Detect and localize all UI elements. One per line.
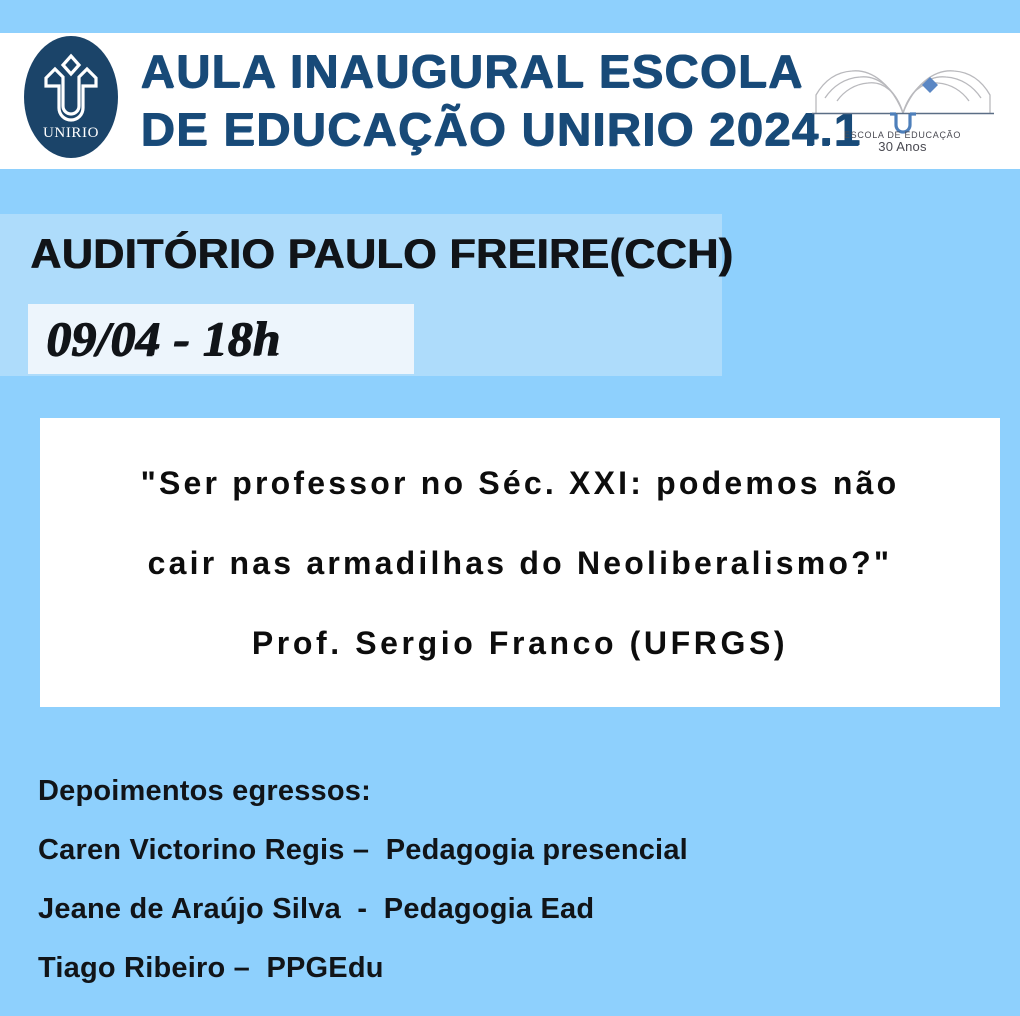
testimonials-heading: Depoimentos egressos: [38, 762, 978, 821]
venue-location: AUDITÓRIO PAULO FREIRE(CCH) [30, 228, 733, 280]
event-poster: UNIRIO AULA INAUGURAL ESCOLA DE EDUCAÇÃO… [0, 0, 1020, 1016]
testimonials-section: Depoimentos egressos: Caren Victorino Re… [38, 762, 978, 998]
event-date-time: 09/04 - 18h [46, 310, 280, 368]
unirio-logo: UNIRIO [24, 36, 118, 158]
page-title: AULA INAUGURAL ESCOLA DE EDUCAÇÃO UNIRIO… [150, 42, 790, 158]
testimonial-entry-3: Tiago Ribeiro – PPGEdu [38, 939, 978, 998]
escola-educacao-logo: ESCOLA DE EDUCAÇÃO 30 Anos [800, 55, 1005, 155]
escola-logo-caption-line2: 30 Anos [800, 141, 1005, 153]
unirio-crest-icon: UNIRIO [24, 36, 118, 158]
quote-speaker: Prof. Sergio Franco (UFRGS) [40, 603, 1000, 683]
testimonial-entry-2: Jeane de Araújo Silva - Pedagogia Ead [38, 880, 978, 939]
testimonial-entry-1: Caren Victorino Regis – Pedagogia presen… [38, 821, 978, 880]
escola-logo-caption: ESCOLA DE EDUCAÇÃO 30 Anos [800, 129, 1005, 153]
title-line-2: DE EDUCAÇÃO UNIRIO 2024.1 [140, 100, 799, 158]
title-line-1: AULA INAUGURAL ESCOLA [140, 42, 799, 100]
quote-line-1: "Ser professor no Séc. XXI: podemos não [40, 443, 1000, 523]
quote-box: "Ser professor no Séc. XXI: podemos não … [40, 418, 1000, 707]
quote-line-2: cair nas armadilhas do Neoliberalismo?" [40, 523, 1000, 603]
unirio-wordmark: UNIRIO [43, 125, 99, 141]
